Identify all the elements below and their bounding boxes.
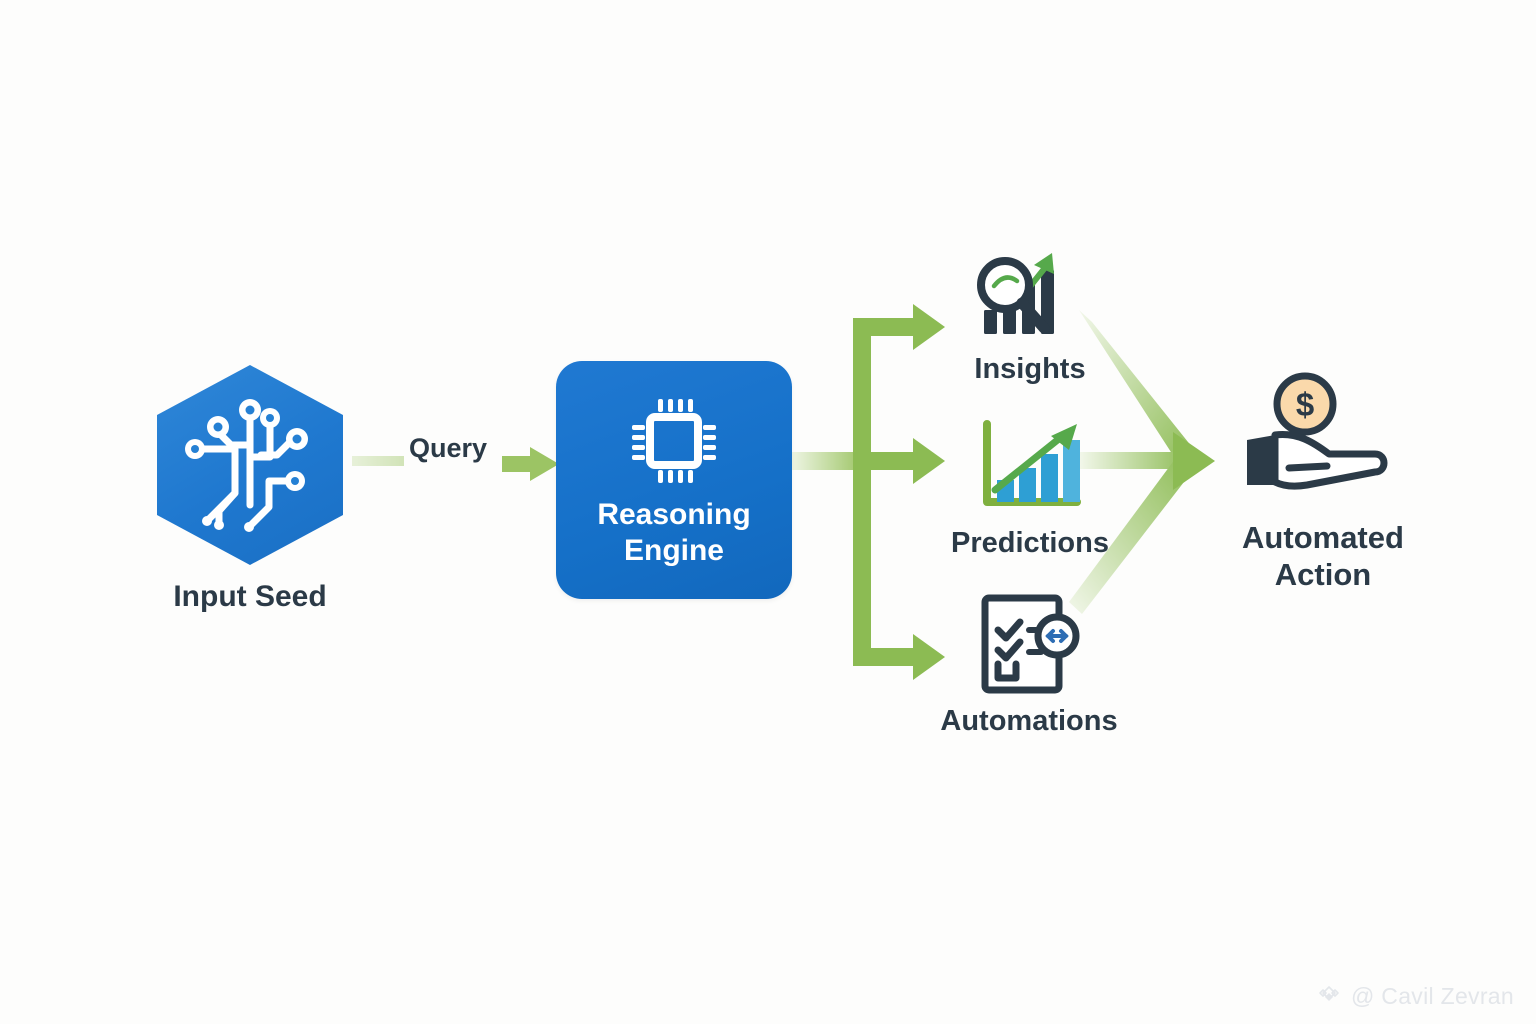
arrow-right-icon — [502, 447, 560, 481]
diagram-canvas: Input Seed Query — [0, 0, 1536, 1024]
node-automations[interactable]: Automations — [905, 592, 1153, 738]
diamond-logo-icon — [1315, 982, 1343, 1010]
cpu-chip-icon — [628, 395, 720, 487]
magnifier-bar-chart-icon — [972, 248, 1088, 344]
reasoning-engine-box[interactable]: Reasoning Engine — [556, 361, 792, 599]
hand-holding-coin-icon: $ — [1237, 372, 1409, 500]
predictions-label: Predictions — [951, 526, 1109, 560]
checklist-refresh-icon — [973, 592, 1085, 696]
growth-bar-chart-icon — [969, 418, 1091, 518]
node-predictions[interactable]: Predictions — [912, 418, 1148, 560]
reasoning-engine-label: Reasoning Engine — [597, 497, 750, 569]
query-label: Query — [398, 433, 498, 464]
query-line — [352, 456, 404, 466]
node-reasoning-engine[interactable]: Reasoning Engine — [556, 361, 792, 599]
query-connector: Query — [352, 425, 562, 495]
insights-label: Insights — [974, 352, 1085, 386]
automations-label: Automations — [940, 704, 1117, 738]
watermark-handle: @ Cavil Zevran — [1351, 983, 1514, 1010]
svg-text:$: $ — [1296, 386, 1314, 423]
node-insights[interactable]: Insights — [930, 248, 1130, 386]
converge-arrowhead — [1173, 432, 1215, 490]
branch-trunk — [853, 318, 871, 666]
watermark: @ Cavil Zevran — [1315, 982, 1514, 1010]
circuit-hexagon-icon — [157, 365, 343, 565]
node-automated-action[interactable]: $ Automated Action — [1218, 372, 1428, 593]
automated-action-label: Automated Action — [1242, 520, 1404, 593]
node-input-seed[interactable]: Input Seed — [150, 365, 350, 614]
input-seed-icon-wrap — [157, 365, 343, 565]
input-seed-label: Input Seed — [173, 579, 326, 614]
